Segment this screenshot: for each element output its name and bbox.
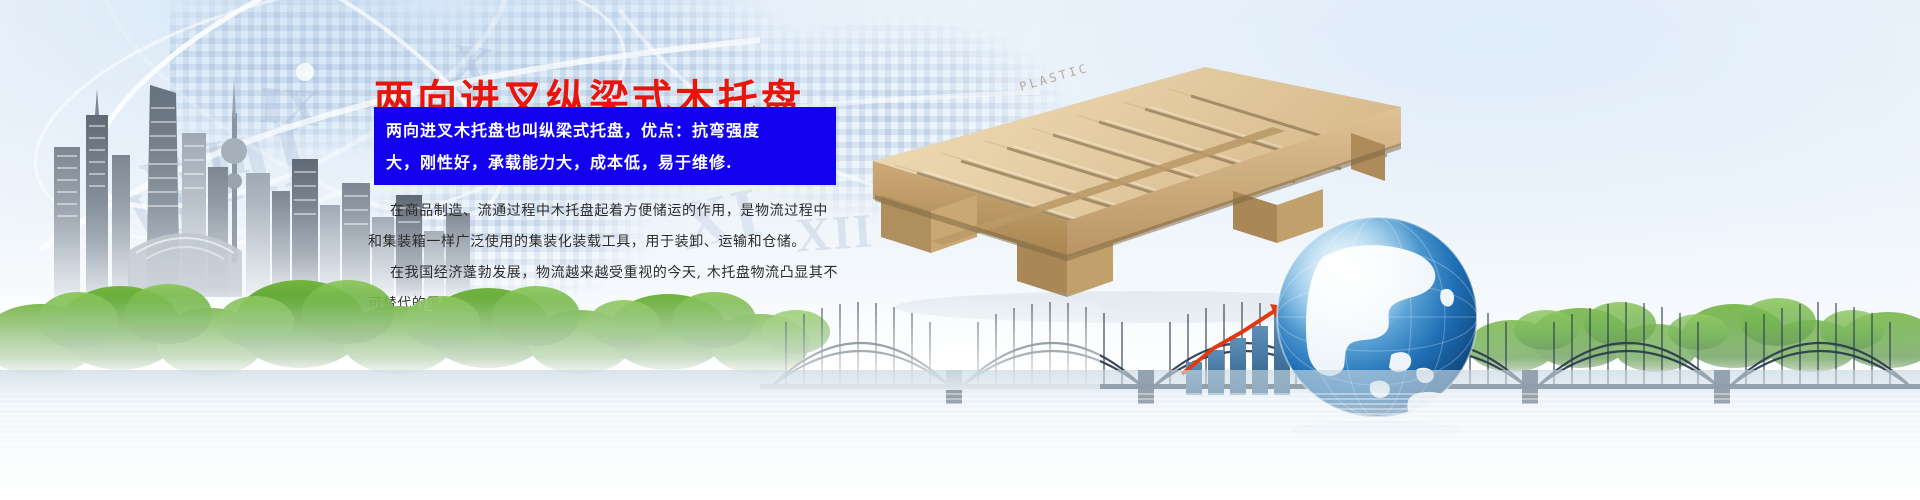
highlight-line-1: 两向进叉木托盘也叫纵梁式托盘，优点：抗弯强度 xyxy=(386,115,826,147)
highlight-line-2: 大，刚性好，承载能力大，成本低，易于维修. xyxy=(386,147,826,179)
highlight-callout: 两向进叉木托盘也叫纵梁式托盘，优点：抗弯强度 大，刚性好，承载能力大，成本低，易… xyxy=(374,107,836,185)
product-banner: VI VII VIII IX X XI XII xyxy=(0,0,1920,500)
pallet-stencil-text: PLASTIC xyxy=(1018,61,1091,94)
water-streaks xyxy=(0,390,1920,476)
body-line-1: 在商品制造、流通过程中木托盘起着方便储运的作用，是物流过程中 xyxy=(368,196,868,227)
body-line-2: 和集装箱一样广泛使用的集装化装载工具，用于装卸、运输和仓储。 xyxy=(368,227,868,258)
